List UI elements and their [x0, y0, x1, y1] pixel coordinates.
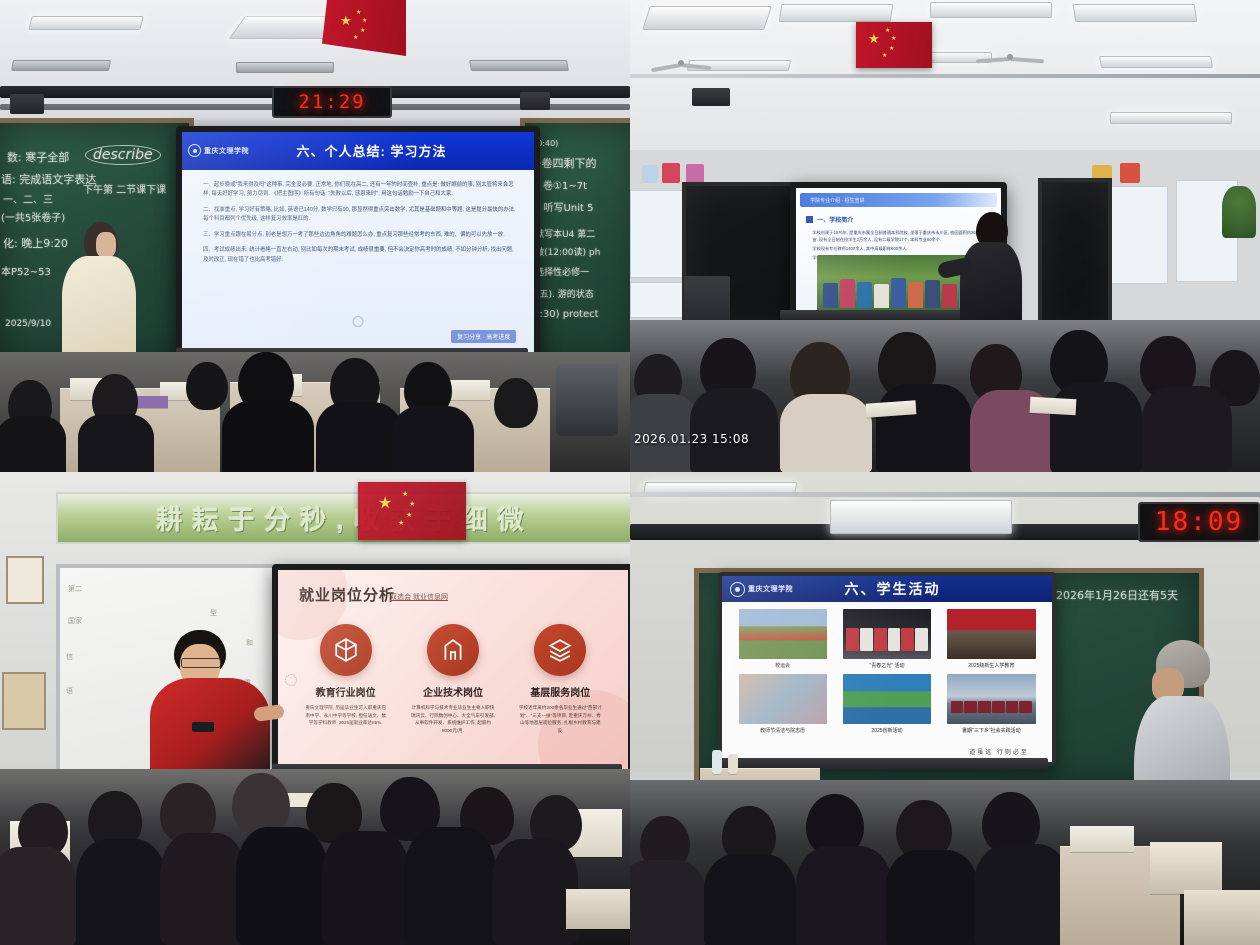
jacket-logo	[192, 722, 214, 732]
slide-nav-button[interactable]: 复习分享 · 高考进度	[451, 330, 516, 343]
slide-section: 一、学校简介	[806, 215, 853, 224]
wall-clock-top-left: 21:29	[272, 86, 392, 118]
blackboard-countdown-note: 距2026年1月26日还有5天	[1045, 587, 1178, 603]
team-member	[978, 701, 991, 713]
wall-poster	[662, 163, 680, 183]
student-torso	[160, 833, 246, 945]
whiteboard-note: 语	[66, 686, 73, 696]
performer	[901, 628, 914, 651]
book-stack	[1070, 826, 1134, 852]
panel-top-left: ★ ★ ★ ★ ★ 21:29 数: 寒子全部 语: 完成语文字表达 一、二、三…	[0, 0, 630, 472]
activity-caption: "青春之光" 活动	[843, 662, 931, 669]
activity-card-grid: 校运会	[739, 609, 1036, 734]
activity-card: 校运会	[739, 609, 827, 669]
activity-card: 教师节清洁与院志愿	[739, 674, 827, 734]
column-body: 学校近年来约200余名毕业生通过"西部计划"、"三支一扶"等项目, 赴重庆万州、…	[512, 704, 609, 734]
classroom-motto-banner: 耕耘于分秒,收获于细微	[56, 492, 630, 544]
fan-hub	[1007, 54, 1013, 60]
school-logo-text: 重庆文理学院	[204, 146, 249, 156]
blackboard-text: 2025/9/10	[5, 319, 51, 329]
ceiling-pipe	[630, 74, 1260, 78]
blackboard-text: 卷①1~7t	[543, 177, 587, 192]
slide-column: 基层服务岗位 学校近年来约200余名毕业生通过"西部计划"、"三支一扶"等项目,…	[512, 624, 609, 734]
team-line	[951, 701, 1032, 713]
fan-blade	[976, 57, 1010, 63]
student-head-with-hat	[232, 773, 290, 835]
student-torso	[630, 860, 706, 945]
paper-sheet	[1030, 397, 1077, 415]
audience-area	[0, 769, 630, 945]
wall-poster	[686, 164, 704, 184]
blackboard-text: (一共5张卷子)	[1, 209, 65, 224]
team-member	[1019, 701, 1032, 713]
student-torso	[876, 384, 972, 472]
activity-thumbnail	[739, 609, 827, 659]
school-logo-icon	[730, 582, 745, 597]
performer	[915, 628, 928, 651]
column-body: 计算机科学与技术专业毕业生主要入职快瑞讯云、行际数创中心、大全气车引发部, 从事…	[405, 704, 502, 734]
ceiling-lamp	[11, 60, 111, 71]
school-logo-icon	[188, 144, 201, 157]
wall-picture-frame	[6, 556, 44, 604]
slide-paragraph: 一、起步晚或"我来得及吗"这种事, 完全没必要. 正常地, 你们现在高二, 还有…	[203, 181, 516, 200]
slide-subtitle: 双选会 就业信息网	[390, 592, 448, 602]
activity-thumbnail	[947, 674, 1035, 724]
eyeglasses-icon	[181, 658, 221, 668]
performer	[860, 628, 873, 651]
potted-plant	[1222, 186, 1256, 238]
ceiling-lamp	[469, 60, 569, 71]
whiteboard-note: 型	[210, 608, 217, 618]
slide-title: 六、学生活动	[793, 579, 992, 599]
ceiling-lamp	[28, 16, 143, 30]
ceiling-lamp	[930, 2, 1052, 18]
column-body: 重庆文理学院, 历届毕业生可入职重庆巴南中学、永川中学等学校, 担任语文、数学等…	[297, 704, 394, 727]
photo-timestamp: 2026.01.23 15:08	[634, 432, 749, 446]
team-member	[964, 701, 977, 713]
panel-bottom-left: 耕耘于分秒,收获于细微 ★ ★ ★ ★ ★ 第二 国家 信 语 型 和 重 英语	[0, 472, 630, 945]
blackboard-text: 本P52~53	[1, 263, 51, 278]
column-heading: 教育行业岗位	[297, 684, 394, 699]
performer	[888, 628, 901, 651]
blackboard-text: 语: 完成语文字表达	[1, 171, 96, 187]
person	[840, 279, 855, 308]
activity-caption: 暑期"三下乡"社会实践活动	[947, 727, 1035, 734]
flag-star: ★	[406, 512, 412, 519]
interactive-whiteboard-bl[interactable]: 就业岗位分析 双选会 就业信息网 教育行业岗位 重庆文理学院, 历届毕业生可入职…	[272, 564, 630, 776]
slide-column: 教育行业岗位 重庆文理学院, 历届毕业生可入职重庆巴南中学、永川中学等学校, 担…	[297, 624, 394, 734]
slide-header-bar: 重庆文理学院 六、学生活动	[722, 576, 1052, 602]
book-stack	[566, 889, 630, 929]
student-torso	[322, 831, 410, 945]
performer	[874, 628, 887, 651]
slide-display-bl: 就业岗位分析 双选会 就业信息网 教育行业岗位 重庆文理学院, 历届毕业生可入职…	[278, 570, 628, 770]
person	[874, 284, 889, 307]
audience-area	[630, 780, 1260, 945]
student-torso	[974, 844, 1070, 945]
student-torso	[78, 414, 154, 472]
cube-icon	[320, 624, 372, 676]
group-photo-people	[823, 273, 974, 308]
student-torso	[704, 854, 796, 945]
student-torso	[316, 402, 402, 472]
fan-blade	[1010, 57, 1044, 63]
school-logo: 重庆文理学院	[188, 144, 249, 157]
teacher-coat	[62, 256, 136, 362]
student-torso	[392, 406, 474, 472]
interactive-whiteboard-tl[interactable]: 重庆文理学院 六、个人总结: 学习方法 一、起步晚或"我来得及吗"这种事, 完全…	[176, 126, 540, 360]
speaker-box	[520, 92, 550, 110]
book-stack	[1150, 842, 1222, 894]
slide-header-text: 学院专业介绍 · 招生宣讲	[810, 197, 864, 204]
projector-mount	[692, 88, 730, 106]
flag-star: ★	[362, 18, 367, 24]
ceiling-lamp	[642, 6, 772, 30]
ceiling-fan	[646, 52, 716, 74]
flag-star: ★	[409, 501, 415, 508]
slide-header-bar: 重庆文理学院 六、个人总结: 学习方法	[182, 132, 534, 170]
bottle	[728, 754, 738, 774]
projected-slide-bl[interactable]: 重庆文理学院 六、学生活动 校运会	[718, 572, 1056, 766]
slide-title: 六、个人总结: 学习方法	[249, 141, 494, 160]
person	[942, 284, 957, 308]
flag-star: ★	[889, 46, 894, 52]
student-torso	[0, 847, 76, 945]
activity-caption: 2025级新生入学教育	[947, 662, 1035, 669]
school-logo-text: 重庆文理学院	[748, 584, 793, 594]
motto-text: 耕耘于分秒,收获于细微	[156, 500, 533, 537]
ceiling-lamp	[236, 62, 334, 73]
wall-poster	[1120, 163, 1140, 183]
student-torso	[236, 827, 328, 945]
activity-card: 2025级新生入学教育	[947, 609, 1035, 669]
slide-paragraph: 四、考试成绩出来, 统计看格一直左右动, 别比如每次的期末考试, 成绩很重要, …	[203, 246, 516, 265]
photo-collage: ★ ★ ★ ★ ★ 21:29 数: 寒子全部 语: 完成语文字表达 一、二、三…	[0, 0, 1260, 945]
student-torso	[886, 850, 978, 945]
student-torso	[796, 846, 892, 945]
activity-thumbnail	[947, 609, 1035, 659]
blackboard-circled-word: describe	[85, 145, 161, 165]
blackboard-right	[1038, 178, 1112, 336]
flag-star: ★	[353, 35, 358, 41]
person	[891, 278, 906, 308]
person	[908, 282, 923, 307]
person	[823, 283, 838, 307]
national-flag: ★ ★ ★ ★ ★	[358, 482, 466, 540]
student-torso	[690, 388, 778, 472]
activity-caption: 教师节清洁与院志愿	[739, 727, 827, 734]
ceiling-fan	[970, 46, 1050, 68]
wall-light-bar	[1110, 112, 1232, 124]
teacher-figure	[62, 222, 136, 362]
student-torso	[1050, 382, 1142, 472]
activity-card: "青春之光" 活动	[843, 609, 931, 669]
student-head	[186, 362, 228, 410]
slide-title: 就业岗位分析	[299, 584, 395, 605]
panel-top-right: ★ ★ ★ ★ ★ 学院专业介绍 · 招生宣讲	[630, 0, 1260, 472]
wall-picture-frame	[2, 672, 46, 730]
activity-caption: 校运会	[739, 662, 827, 669]
student-torso	[0, 416, 66, 472]
bottle	[712, 750, 722, 774]
ceiling-lamp	[1073, 4, 1198, 22]
blackboard-text: 数: 寒子全部	[7, 149, 69, 165]
ceiling-lamp	[830, 500, 1012, 534]
student-torso	[780, 394, 872, 472]
building-icon	[427, 624, 479, 676]
flag-star: ★	[882, 53, 887, 59]
slide-display-br: 重庆文理学院 六、学生活动 校运会	[722, 576, 1052, 762]
fan-hub	[678, 60, 684, 66]
fan-blade	[651, 63, 681, 72]
performer	[846, 628, 859, 651]
flag-star: ★	[340, 14, 352, 27]
activity-thumbnail	[739, 674, 827, 724]
layers-icon	[534, 624, 586, 676]
whiteboard-note: 国家	[68, 616, 82, 626]
panel-bottom-right: 18:09 距2026年1月26日还有5天 重庆文理学院 六、学生活动	[630, 472, 1260, 945]
slide-body: 一、起步晚或"我来得及吗"这种事, 完全没必要. 正常地, 你们现在高二, 还有…	[203, 181, 516, 271]
activity-thumbnail	[843, 674, 931, 724]
whiteboard-note: 信	[66, 652, 73, 662]
slide-column: 企业技术岗位 计算机科学与技术专业毕业生主要入职快瑞讯云、行际数创中心、大全气车…	[405, 624, 502, 734]
presenter-figure	[150, 630, 270, 780]
flag-star: ★	[885, 28, 890, 34]
school-logo: 重庆文理学院	[730, 582, 793, 597]
fan-blade	[681, 63, 711, 70]
student-torso	[76, 839, 166, 945]
blackboard-text: 一、二、三	[3, 191, 53, 206]
ceiling-lamp	[779, 4, 894, 22]
audience-area	[0, 352, 630, 472]
chair	[556, 364, 618, 436]
slide-section-title: 一、学校简介	[817, 215, 853, 224]
student-torso	[404, 827, 496, 945]
blackboard-text: 化: 晚上9:20	[3, 235, 68, 251]
slide-paragraph: 二、找准重点, 学习好有策略, 比如, 英语已140分, 数学只有90, 那显然…	[203, 206, 516, 225]
person	[925, 280, 940, 308]
flag-star: ★	[398, 520, 404, 527]
slide-header-bar: 学院专业介绍 · 招生宣讲	[800, 193, 997, 207]
flag-star: ★	[891, 36, 896, 42]
column-heading: 基层服务岗位	[512, 684, 609, 699]
bullet-square-icon	[806, 216, 813, 223]
activity-thumbnail	[843, 609, 931, 659]
team-member	[992, 701, 1005, 713]
slide-display-tl: 重庆文理学院 六、个人总结: 学习方法 一、起步晚或"我来得及吗"这种事, 完全…	[182, 132, 534, 354]
slide-signature: 道虽远 行则必至	[969, 747, 1029, 756]
national-flag: ★ ★ ★ ★ ★	[856, 22, 932, 68]
team-member	[1006, 701, 1019, 713]
flag-star: ★	[868, 32, 880, 45]
wall-poster	[642, 165, 658, 183]
stage-performers	[846, 628, 927, 651]
person	[857, 282, 872, 308]
activity-card: 2025创新活动	[843, 674, 931, 734]
team-member	[951, 701, 964, 713]
speaker-box	[10, 94, 44, 114]
slide-columns: 教育行业岗位 重庆文理学院, 历届毕业生可入职重庆巴南中学、永川中学等学校, 担…	[292, 624, 614, 734]
activity-card: 暑期"三下乡"社会实践活动	[947, 674, 1035, 734]
student-torso	[1142, 386, 1232, 472]
whiteboard-note: 第二	[68, 584, 82, 594]
audience-area	[630, 320, 1260, 472]
student-torso	[222, 400, 314, 472]
flag-star: ★	[360, 28, 365, 34]
flag-star: ★	[378, 496, 392, 512]
flag-star: ★	[356, 10, 361, 16]
ceiling-pipe	[630, 492, 1260, 497]
book-stack	[1184, 890, 1260, 945]
flag-star: ★	[402, 491, 408, 498]
teacher-face	[96, 232, 116, 258]
slide-paragraph: 三、学习重点跟在易分点, 别老是想万一考了那些边边角角的难题怎么办, 重点复习那…	[203, 231, 516, 240]
column-heading: 企业技术岗位	[405, 684, 502, 699]
wall-clock-bottom-right: 18:09	[1138, 502, 1260, 542]
student-head	[494, 378, 538, 428]
ceiling-lamp	[1099, 56, 1213, 68]
activity-caption: 2025创新活动	[843, 727, 931, 734]
slide-watermark-icon	[353, 316, 364, 327]
blackboard-text: 下午第 二节课下课	[83, 181, 166, 196]
